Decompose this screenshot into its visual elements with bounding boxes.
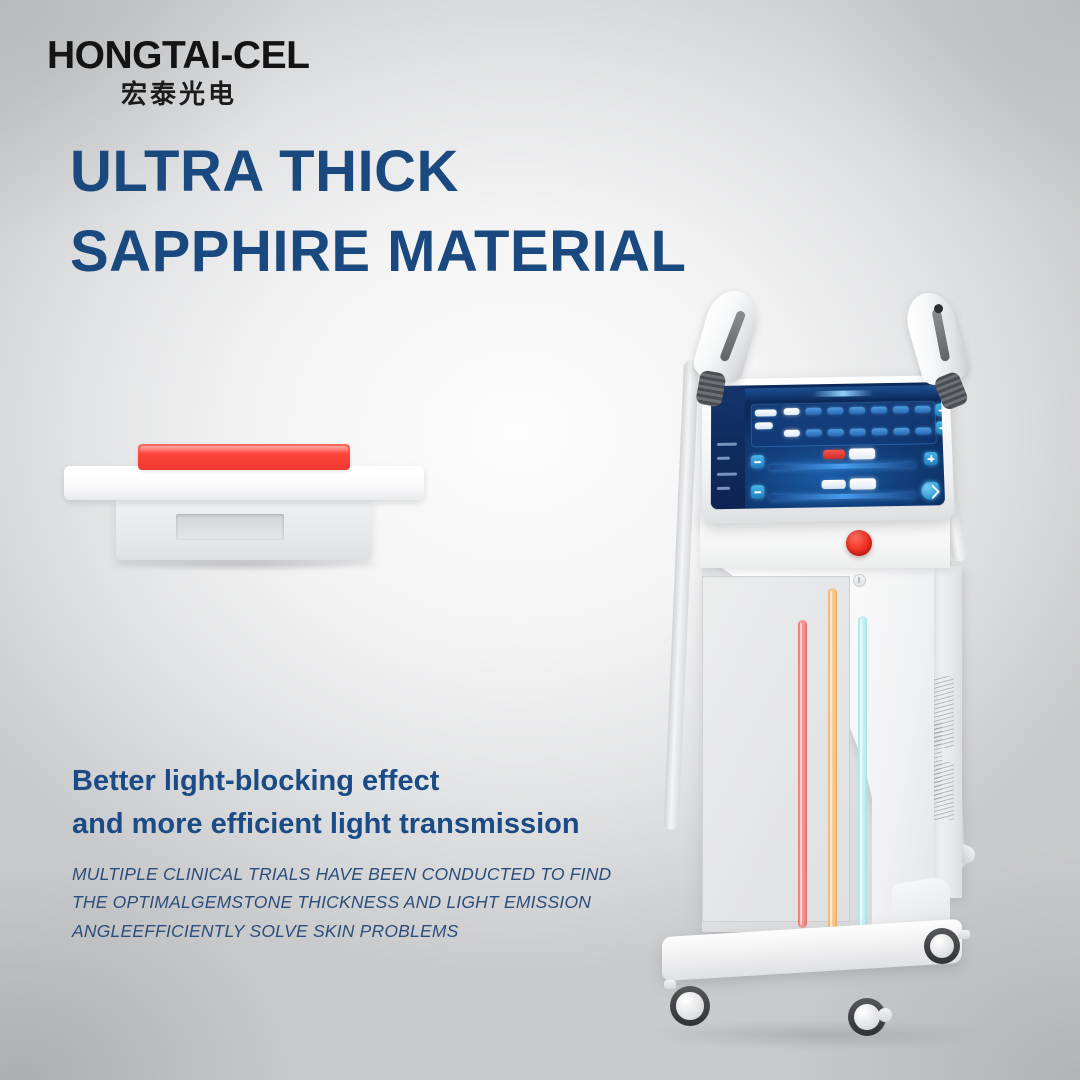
touchscreen-control-panel[interactable] xyxy=(711,382,945,509)
subheadline: Better light-blocking effect and more ef… xyxy=(72,760,580,846)
body-copy-line-3: ANGLEEFFICIENTLY SOLVE SKIN PROBLEMS xyxy=(72,917,672,945)
mode-option-1[interactable] xyxy=(805,408,821,415)
menu-icon-4[interactable] xyxy=(717,487,730,490)
mode-tag-2[interactable] xyxy=(755,422,773,429)
mode-option-3[interactable] xyxy=(849,407,865,414)
mode-selected-2[interactable] xyxy=(784,430,800,437)
body-copy: MULTIPLE CLINICAL TRIALS HAVE BEEN CONDU… xyxy=(72,860,672,945)
mode-option-6[interactable] xyxy=(915,406,931,413)
menu-icon-3[interactable] xyxy=(717,473,737,476)
brand-name-chinese: 宏泰光电 xyxy=(121,81,309,107)
power-button[interactable] xyxy=(853,574,866,587)
screen-mode-panel[interactable] xyxy=(751,401,937,448)
product-poster: HONGTAI-CEL 宏泰光电 ULTRA THICK SAPPHIRE MA… xyxy=(0,0,1080,1080)
frequency-label-tag xyxy=(822,480,846,489)
energy-slider-row[interactable] xyxy=(751,447,938,476)
frequency-decrease-button[interactable] xyxy=(751,485,764,498)
mode-option-11[interactable] xyxy=(893,428,909,435)
subheadline-line-2: and more efficient light transmission xyxy=(72,803,580,846)
headline-line-2: SAPPHIRE MATERIAL xyxy=(70,212,686,292)
energy-value-display[interactable] xyxy=(849,448,875,459)
brand-name: HONGTAI-CEL xyxy=(47,36,309,75)
frequency-slider-track[interactable] xyxy=(769,493,916,501)
emergency-stop-button[interactable] xyxy=(846,530,872,556)
sapphire-red-accent-bar xyxy=(138,444,350,470)
screen-title-glow xyxy=(812,390,874,397)
caster-stem-center xyxy=(878,1008,892,1022)
indicator-rod-orange xyxy=(828,588,837,930)
mode-option-4[interactable] xyxy=(871,406,887,413)
handpiece-left[interactable] xyxy=(690,285,763,387)
energy-warning-badge xyxy=(823,450,845,459)
brand-logo: HONGTAI-CEL 宏泰光电 xyxy=(47,36,309,107)
frequency-slider-row[interactable] xyxy=(751,477,939,507)
mode-tag-1[interactable] xyxy=(755,409,777,416)
mode-option-10[interactable] xyxy=(871,428,887,435)
frequency-value-display[interactable] xyxy=(850,478,876,490)
mode-option-9[interactable] xyxy=(850,429,866,436)
sapphire-crystal-part xyxy=(60,430,440,610)
sapphire-notch xyxy=(176,514,284,540)
handpiece-right[interactable] xyxy=(900,287,971,389)
sapphire-flange xyxy=(64,466,424,500)
screen-title-bar xyxy=(745,385,941,401)
caster-hub xyxy=(854,1004,880,1030)
mode-selected-1[interactable] xyxy=(784,408,800,415)
energy-increase-button[interactable] xyxy=(924,452,937,465)
indicator-rod-cyan xyxy=(858,616,867,934)
handpiece-cable-left xyxy=(664,360,699,830)
mode-option-8[interactable] xyxy=(828,429,844,436)
subheadline-line-1: Better light-blocking effect xyxy=(72,760,580,803)
energy-decrease-button[interactable] xyxy=(751,455,764,468)
menu-icon-2[interactable] xyxy=(717,457,730,460)
caster-wheel-left xyxy=(670,986,710,1026)
caster-hub xyxy=(676,992,703,1019)
mode-option-12[interactable] xyxy=(915,427,931,434)
mode-option-2[interactable] xyxy=(827,407,843,414)
headline-line-1: ULTRA THICK xyxy=(70,139,459,204)
headline: ULTRA THICK SAPPHIRE MATERIAL xyxy=(70,132,686,292)
body-copy-line-2: THE OPTIMALGEMSTONE THICKNESS AND LIGHT … xyxy=(72,888,672,916)
laser-machine xyxy=(640,280,1040,1070)
mode-option-7[interactable] xyxy=(806,429,822,436)
menu-icon-1[interactable] xyxy=(717,443,737,446)
energy-slider-track[interactable] xyxy=(769,462,916,470)
indicator-rod-pink xyxy=(798,620,807,928)
caster-wheel-right xyxy=(924,928,960,964)
screen-bezel xyxy=(702,375,955,524)
mode-option-5[interactable] xyxy=(893,406,909,413)
body-copy-line-1: MULTIPLE CLINICAL TRIALS HAVE BEEN CONDU… xyxy=(72,860,672,888)
mode-decrease-button[interactable] xyxy=(936,421,945,434)
